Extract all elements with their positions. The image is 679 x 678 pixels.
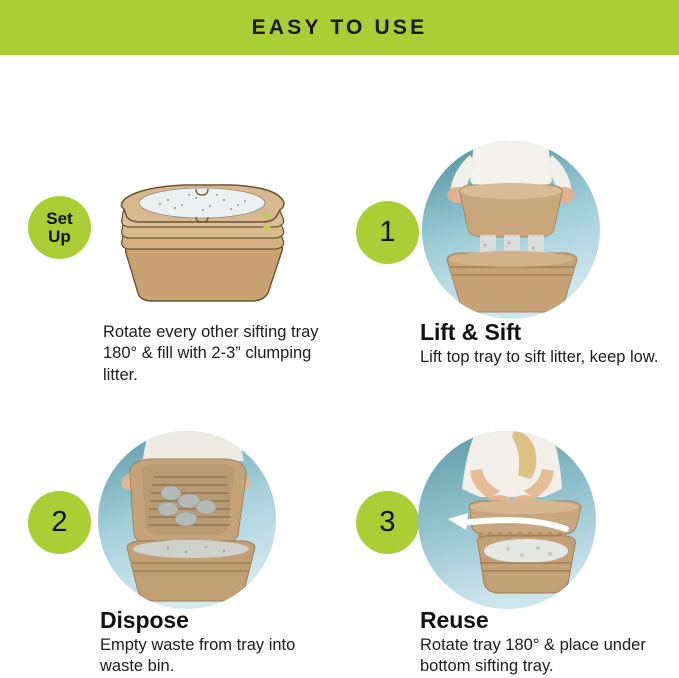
- badge-step-1-label: 1: [379, 218, 395, 248]
- badge-setup-line2: Up: [48, 228, 71, 245]
- badge-step-3: 3: [356, 491, 419, 554]
- badge-step-2: 2: [28, 491, 91, 554]
- step-heading-1: Lift & Sift: [420, 319, 670, 346]
- badge-step-1: 1: [356, 201, 419, 264]
- step-heading-3: Reuse: [420, 607, 672, 634]
- badge-step-3-label: 3: [379, 508, 395, 538]
- litter-box-stack-illustration: [112, 181, 292, 307]
- step-text-3: Reuse Rotate tray 180° & place under bot…: [420, 607, 672, 678]
- step-body-2: Empty waste from tray into waste bin.: [100, 635, 340, 678]
- badge-setup: Set Up: [28, 196, 91, 259]
- badge-setup-line1: Set: [46, 210, 72, 227]
- sifting-tray-clumps-photo: [98, 431, 276, 609]
- step-heading-2: Dispose: [100, 607, 340, 634]
- badge-step-2-label: 2: [51, 508, 67, 538]
- steps-grid: Set Up: [0, 55, 679, 628]
- rotate-tray-photo: [418, 431, 596, 609]
- header-band: EASY TO USE: [0, 0, 679, 55]
- lift-tray-photo: [422, 141, 600, 319]
- step-body-3: Rotate tray 180° & place under bottom si…: [420, 635, 672, 678]
- page-title: EASY TO USE: [252, 16, 428, 40]
- step-text-2: Dispose Empty waste from tray into waste…: [100, 607, 340, 678]
